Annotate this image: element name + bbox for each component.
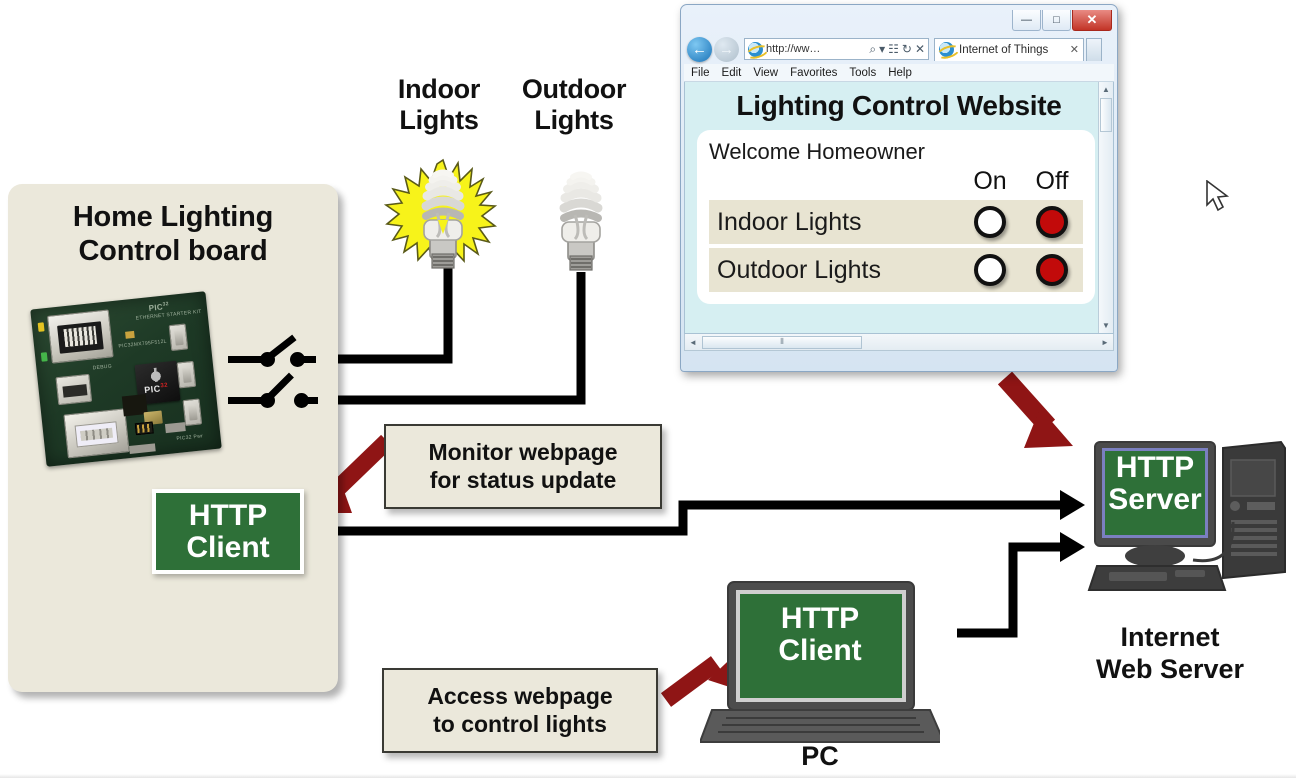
home-panel-title-line2: Control board — [8, 234, 338, 268]
server-label-line2: Web Server — [1060, 654, 1280, 686]
smd-part-a — [125, 331, 135, 339]
browser-tab[interactable]: Internet of Things ✕ — [934, 38, 1084, 61]
bottom-edge-divider — [0, 774, 1296, 778]
server-screen-line2: Server — [1100, 484, 1210, 516]
home-panel-title-line1: Home Lighting — [8, 200, 338, 234]
forward-arrow-icon[interactable]: → — [714, 37, 739, 62]
window-controls: — □ ✕ — [1011, 10, 1112, 31]
webpage-viewport: Lighting Control Website Welcome Homeown… — [684, 82, 1114, 334]
usb-type-a-connector — [63, 408, 129, 458]
column-headers: On Off — [709, 167, 1083, 196]
row-label-outdoor-lights: Outdoor Lights — [717, 256, 959, 285]
board-button-1[interactable] — [169, 323, 189, 351]
bulb-indoor-lights — [382, 158, 504, 276]
column-header-on: On — [959, 167, 1021, 196]
board-http-client-box: HTTP Client — [152, 489, 304, 574]
pc-screen-line1: HTTP — [745, 603, 895, 635]
pin-header — [135, 421, 154, 435]
compatibility-view-icon[interactable]: ☷ — [888, 43, 899, 55]
cfl-bulb-shape — [424, 173, 462, 269]
chip-family-sup: 32 — [160, 383, 168, 390]
menu-item-view[interactable]: View — [753, 67, 778, 79]
radio-indoor-on[interactable] — [959, 206, 1021, 238]
label-outdoor-lights-line2: Lights — [504, 105, 644, 136]
stop-icon[interactable]: ✕ — [915, 43, 925, 55]
tab-close-icon[interactable]: ✕ — [1070, 43, 1079, 56]
horizontal-scrollbar[interactable]: ◄ ⦀ ► — [684, 334, 1114, 351]
board-button-3[interactable] — [183, 398, 203, 426]
led-yellow — [38, 322, 45, 332]
scroll-right-icon[interactable]: ► — [1097, 338, 1113, 347]
welcome-message: Welcome Homeowner — [709, 139, 1083, 165]
address-bar[interactable]: http://ww… ⌕ ▾ ☷ ↻ ✕ — [744, 38, 929, 60]
navigation-bar: ← → http://ww… ⌕ ▾ ☷ ↻ ✕ Internet of Thi… — [684, 34, 1114, 64]
menu-bar: File Edit View Favorites Tools Help — [684, 64, 1114, 82]
wire-outdoor-lights — [305, 272, 581, 400]
callout-access-line2: to control lights — [427, 711, 612, 739]
callout-monitor-webpage: Monitor webpage for status update — [384, 424, 662, 509]
server-screen-line1: HTTP — [1100, 452, 1210, 484]
browser-tab-title: Internet of Things — [959, 44, 1065, 56]
mouse-cursor — [1205, 180, 1231, 214]
home-panel-title: Home Lighting Control board — [8, 200, 338, 268]
maximize-button[interactable]: □ — [1042, 10, 1071, 31]
server-label: Internet Web Server — [1060, 622, 1280, 686]
relay-switch-outdoor[interactable] — [228, 381, 318, 413]
new-tab-button[interactable] — [1086, 38, 1102, 61]
board-http-client-line1: HTTP — [186, 500, 269, 532]
scroll-down-icon[interactable]: ▼ — [1099, 318, 1113, 333]
label-outdoor-lights: Outdoor Lights — [504, 74, 644, 137]
table-row: Outdoor Lights — [709, 248, 1083, 292]
internet-explorer-icon — [748, 42, 763, 57]
board-http-client-line2: Client — [186, 532, 269, 564]
server-label-line1: Internet — [1060, 622, 1280, 654]
window-titlebar[interactable]: — □ ✕ — [684, 8, 1114, 34]
board-button-2[interactable] — [177, 361, 197, 389]
internet-explorer-window: — □ ✕ ← → http://ww… ⌕ ▾ ☷ ↻ ✕ Internet … — [680, 4, 1118, 372]
radio-indoor-off[interactable] — [1021, 206, 1083, 238]
horizontal-scrollbar-thumb[interactable]: ⦀ — [702, 336, 862, 349]
back-arrow-icon[interactable]: ← — [687, 37, 712, 62]
menu-item-edit[interactable]: Edit — [722, 67, 742, 79]
scroll-left-icon[interactable]: ◄ — [685, 338, 701, 347]
address-bar-url: http://ww… — [766, 43, 866, 55]
chevron-down-icon[interactable]: ▾ — [879, 43, 885, 55]
callout-monitor-line1: Monitor webpage — [428, 439, 617, 467]
search-icon[interactable]: ⌕ — [869, 43, 876, 55]
cfl-bulb-shape — [562, 175, 600, 271]
arrow-browser-to-server — [1005, 378, 1073, 448]
relay-switch-indoor[interactable] — [228, 340, 318, 372]
menu-item-file[interactable]: File — [691, 67, 710, 79]
minimize-button[interactable]: — — [1012, 10, 1041, 31]
bulb-outdoor-lights — [534, 160, 630, 276]
lighting-control-card: Welcome Homeowner On Off Indoor Lights O… — [697, 130, 1095, 304]
label-indoor-lights-line1: Indoor — [380, 74, 498, 105]
led-green — [41, 352, 48, 362]
pc-screen-text: HTTP Client — [745, 603, 895, 667]
pc-screen-line2: Client — [745, 635, 895, 667]
ethernet-rj45-jack — [47, 309, 114, 363]
chip-family-text: PIC — [144, 383, 161, 395]
close-button[interactable]: ✕ — [1072, 10, 1112, 31]
row-label-indoor-lights: Indoor Lights — [717, 208, 959, 237]
vertical-scrollbar[interactable]: ▲ ▼ — [1098, 82, 1113, 333]
column-header-off: Off — [1021, 167, 1083, 196]
label-indoor-lights: Indoor Lights — [380, 74, 498, 137]
pic32-starter-kit-board: PIC32 PIC32 ETHERNET STARTER KIT DEBUG P… — [30, 291, 222, 467]
menu-item-tools[interactable]: Tools — [849, 67, 876, 79]
menu-item-favorites[interactable]: Favorites — [790, 67, 837, 79]
callout-access-webpage: Access webpage to control lights — [382, 668, 658, 753]
label-outdoor-lights-line1: Outdoor — [504, 74, 644, 105]
usb-mini-connector — [55, 374, 92, 405]
refresh-icon[interactable]: ↻ — [902, 43, 912, 55]
scroll-up-icon[interactable]: ▲ — [1099, 82, 1113, 97]
link-pc-to-server — [957, 547, 1060, 633]
tab-favicon-icon — [939, 42, 954, 57]
callout-access-line1: Access webpage — [427, 683, 612, 711]
radio-outdoor-off[interactable] — [1021, 254, 1083, 286]
callout-monitor-line2: for status update — [428, 467, 617, 495]
label-indoor-lights-line2: Lights — [380, 105, 498, 136]
diagram-canvas: Home Lighting Control board PIC32 PIC32 … — [0, 0, 1296, 778]
website-title: Lighting Control Website — [695, 90, 1103, 122]
menu-item-help[interactable]: Help — [888, 67, 912, 79]
table-row: Indoor Lights — [709, 200, 1083, 244]
pc-label: PC — [760, 741, 880, 773]
vertical-scrollbar-thumb[interactable] — [1100, 98, 1112, 132]
radio-outdoor-on[interactable] — [959, 254, 1021, 286]
server-screen-text: HTTP Server — [1100, 452, 1210, 516]
